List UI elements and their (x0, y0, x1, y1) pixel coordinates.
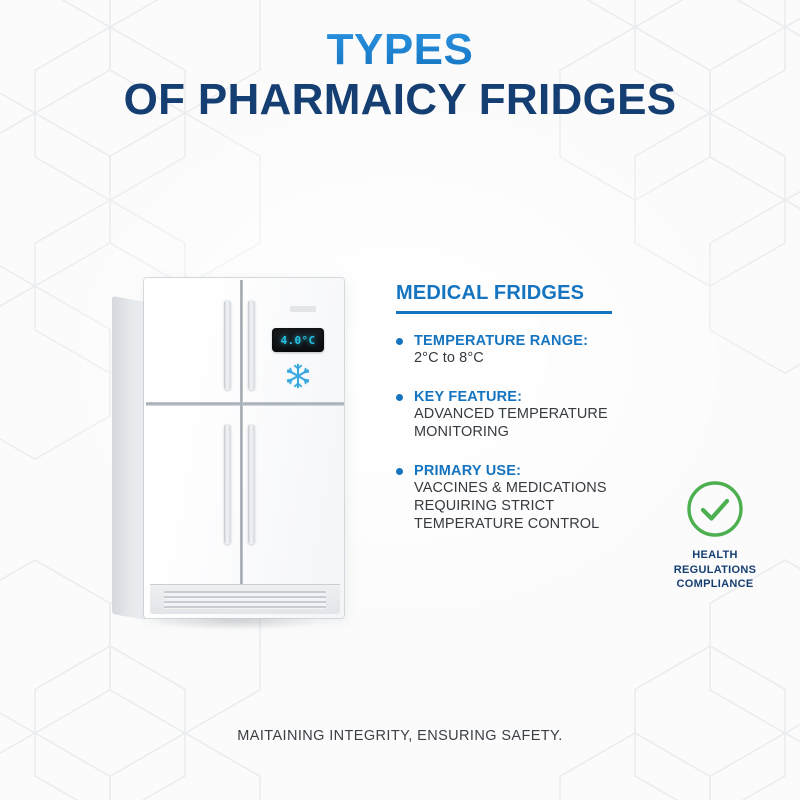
bullet-dot-icon (396, 338, 403, 345)
status-badge: HEALTH REGULATIONS COMPLIANCE (642, 478, 788, 592)
footer-tagline: MAITAINING INTEGRITY, ENSURING SAFETY. (0, 728, 800, 744)
list-item-body: PRIMARY USE: VACCINES & MEDICATIONS REQU… (414, 462, 656, 534)
list-item-text: 2°C to 8°C (414, 350, 656, 368)
fridge-brand-mark (290, 306, 316, 312)
fridge-handle-bottom-right (248, 424, 255, 544)
list-item: KEY FEATURE: ADVANCED TEMPERATURE MONITO… (396, 388, 656, 442)
list-item: PRIMARY USE: VACCINES & MEDICATIONS REQU… (396, 462, 656, 534)
list-item: TEMPERATURE RANGE: 2°C to 8°C (396, 332, 656, 368)
info-heading-underline (396, 311, 612, 314)
list-item-label: PRIMARY USE: (414, 462, 656, 480)
infographic-canvas: TYPES OF PHARMAICY FRIDGES 4.0°C (0, 0, 800, 800)
fridge-handle-top-left (224, 300, 231, 390)
list-item-label: TEMPERATURE RANGE: (414, 332, 656, 350)
title-line-secondary: OF PHARMAICY FRIDGES (0, 76, 800, 124)
fridge-temperature-display: 4.0°C (272, 328, 324, 352)
status-badge-label: HEALTH REGULATIONS COMPLIANCE (642, 548, 788, 592)
fridge-door-seam-vertical (240, 280, 243, 584)
temperature-reading: 4.0°C (280, 334, 315, 347)
page-title: TYPES OF PHARMAICY FRIDGES (0, 26, 800, 123)
fridge-door-seam-horizontal (146, 402, 344, 406)
list-item-label: KEY FEATURE: (414, 388, 656, 406)
title-line-primary: TYPES (0, 26, 800, 74)
snowflake-icon (284, 362, 312, 390)
bullet-dot-icon (396, 468, 403, 475)
list-item-body: TEMPERATURE RANGE: 2°C to 8°C (414, 332, 656, 368)
list-item-text: VACCINES & MEDICATIONS REQUIRING STRICT … (414, 480, 656, 534)
fridge-base-vent (150, 584, 340, 614)
check-circle-icon (684, 478, 746, 540)
list-item-body: KEY FEATURE: ADVANCED TEMPERATURE MONITO… (414, 388, 656, 442)
fridge-handle-top-right (248, 300, 255, 390)
fridge-illustration: 4.0°C (112, 278, 356, 636)
info-heading: MEDICAL FRIDGES (396, 282, 656, 305)
info-bullet-list: TEMPERATURE RANGE: 2°C to 8°C KEY FEATUR… (396, 332, 656, 534)
bullet-dot-icon (396, 394, 403, 401)
info-panel: MEDICAL FRIDGES TEMPERATURE RANGE: 2°C t… (396, 282, 656, 534)
list-item-text: ADVANCED TEMPERATURE MONITORING (414, 406, 656, 442)
fridge-side-panel (112, 296, 146, 620)
fridge-vent-slats (164, 591, 326, 609)
fridge-handle-bottom-left (224, 424, 231, 544)
